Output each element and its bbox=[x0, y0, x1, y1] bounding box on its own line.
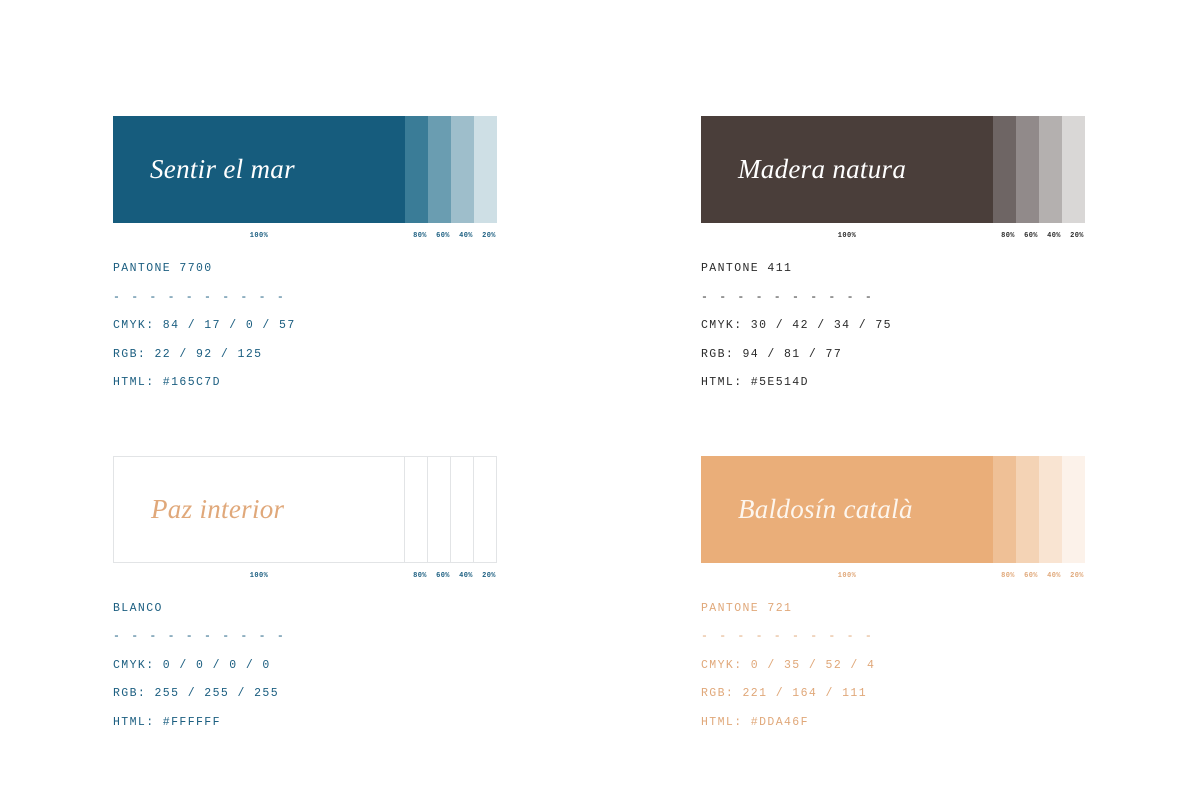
html-value: HTML: #5E514D bbox=[701, 377, 1085, 389]
swatch-tint-60[interactable] bbox=[428, 116, 451, 223]
cmyk-value: CMYK: 84 / 17 / 0 / 57 bbox=[113, 320, 497, 332]
swatch-tint-60[interactable] bbox=[1016, 116, 1039, 223]
swatch-bar: Madera natura bbox=[701, 116, 1085, 223]
cmyk-value: CMYK: 0 / 0 / 0 / 0 bbox=[113, 660, 497, 672]
palette-card-madera-natura: Madera natura 100% 80% 60% 40% 20% PANTO… bbox=[701, 116, 1085, 389]
palette-card-sentir-el-mar: Sentir el mar 100% 80% 60% 40% 20% PANTO… bbox=[113, 116, 497, 389]
dashed-rule: - - - - - - - - - - bbox=[113, 631, 497, 643]
percentage-label-20: 20% bbox=[1062, 232, 1092, 240]
color-info-block: PANTONE 721 - - - - - - - - - - CMYK: 0 … bbox=[701, 603, 1085, 729]
swatch-title: Baldosín català bbox=[738, 496, 913, 523]
swatch-bar: Paz interior bbox=[113, 456, 497, 563]
dashed-rule: - - - - - - - - - - bbox=[701, 292, 1085, 304]
swatch-tint-20[interactable] bbox=[1062, 116, 1085, 223]
percentage-label-100: 100% bbox=[244, 572, 274, 580]
swatch-tint-80[interactable] bbox=[993, 456, 1016, 563]
color-name: BLANCO bbox=[113, 603, 497, 615]
swatch-tint-40[interactable] bbox=[1039, 456, 1062, 563]
color-info-block: BLANCO - - - - - - - - - - CMYK: 0 / 0 /… bbox=[113, 603, 497, 729]
swatch-tint-40[interactable] bbox=[451, 456, 474, 563]
color-name: PANTONE 7700 bbox=[113, 263, 497, 275]
percentage-label-100: 100% bbox=[832, 232, 862, 240]
color-info-block: PANTONE 411 - - - - - - - - - - CMYK: 30… bbox=[701, 263, 1085, 389]
rgb-value: RGB: 255 / 255 / 255 bbox=[113, 688, 497, 700]
rgb-value: RGB: 22 / 92 / 125 bbox=[113, 349, 497, 361]
color-name: PANTONE 411 bbox=[701, 263, 1085, 275]
swatch-bar: Sentir el mar bbox=[113, 116, 497, 223]
palette-page: Sentir el mar 100% 80% 60% 40% 20% PANTO… bbox=[0, 0, 1200, 799]
swatch-tint-40[interactable] bbox=[451, 116, 474, 223]
swatch-tint-80[interactable] bbox=[405, 116, 428, 223]
swatch-main-100[interactable]: Paz interior bbox=[113, 456, 405, 563]
percentage-label-20: 20% bbox=[474, 572, 504, 580]
swatch-tint-40[interactable] bbox=[1039, 116, 1062, 223]
color-info-block: PANTONE 7700 - - - - - - - - - - CMYK: 8… bbox=[113, 263, 497, 389]
color-name: PANTONE 721 bbox=[701, 603, 1085, 615]
dashed-rule: - - - - - - - - - - bbox=[113, 292, 497, 304]
swatch-main-100[interactable]: Baldosín català bbox=[701, 456, 993, 563]
html-value: HTML: #165C7D bbox=[113, 377, 497, 389]
swatch-main-100[interactable]: Madera natura bbox=[701, 116, 993, 223]
percentage-row: 100% 80% 60% 40% 20% bbox=[113, 572, 497, 588]
swatch-tint-20[interactable] bbox=[474, 456, 497, 563]
palette-row-1: Sentir el mar 100% 80% 60% 40% 20% PANTO… bbox=[113, 116, 1085, 389]
swatch-tint-80[interactable] bbox=[993, 116, 1016, 223]
palette-card-baldosin-catala: Baldosín català 100% 80% 60% 40% 20% PAN… bbox=[701, 456, 1085, 729]
palette-grid: Sentir el mar 100% 80% 60% 40% 20% PANTO… bbox=[113, 116, 1085, 728]
swatch-tint-80[interactable] bbox=[405, 456, 428, 563]
html-value: HTML: #FFFFFF bbox=[113, 717, 497, 729]
percentage-label-100: 100% bbox=[832, 572, 862, 580]
dashed-rule: - - - - - - - - - - bbox=[701, 631, 1085, 643]
percentage-label-100: 100% bbox=[244, 232, 274, 240]
rgb-value: RGB: 94 / 81 / 77 bbox=[701, 349, 1085, 361]
percentage-row: 100% 80% 60% 40% 20% bbox=[113, 232, 497, 248]
palette-card-paz-interior: Paz interior 100% 80% 60% 40% 20% BLANCO bbox=[113, 456, 497, 729]
cmyk-value: CMYK: 30 / 42 / 34 / 75 bbox=[701, 320, 1085, 332]
swatch-bar: Baldosín català bbox=[701, 456, 1085, 563]
html-value: HTML: #DDA46F bbox=[701, 717, 1085, 729]
swatch-title: Sentir el mar bbox=[150, 156, 295, 183]
swatch-tint-60[interactable] bbox=[428, 456, 451, 563]
percentage-label-20: 20% bbox=[474, 232, 504, 240]
palette-row-2: Paz interior 100% 80% 60% 40% 20% BLANCO bbox=[113, 456, 1085, 729]
percentage-label-20: 20% bbox=[1062, 572, 1092, 580]
swatch-title: Paz interior bbox=[151, 496, 284, 523]
swatch-title: Madera natura bbox=[738, 156, 906, 183]
rgb-value: RGB: 221 / 164 / 111 bbox=[701, 688, 1085, 700]
swatch-tint-20[interactable] bbox=[474, 116, 497, 223]
swatch-tint-20[interactable] bbox=[1062, 456, 1085, 563]
swatch-main-100[interactable]: Sentir el mar bbox=[113, 116, 405, 223]
percentage-row: 100% 80% 60% 40% 20% bbox=[701, 572, 1085, 588]
percentage-row: 100% 80% 60% 40% 20% bbox=[701, 232, 1085, 248]
swatch-tint-60[interactable] bbox=[1016, 456, 1039, 563]
cmyk-value: CMYK: 0 / 35 / 52 / 4 bbox=[701, 660, 1085, 672]
